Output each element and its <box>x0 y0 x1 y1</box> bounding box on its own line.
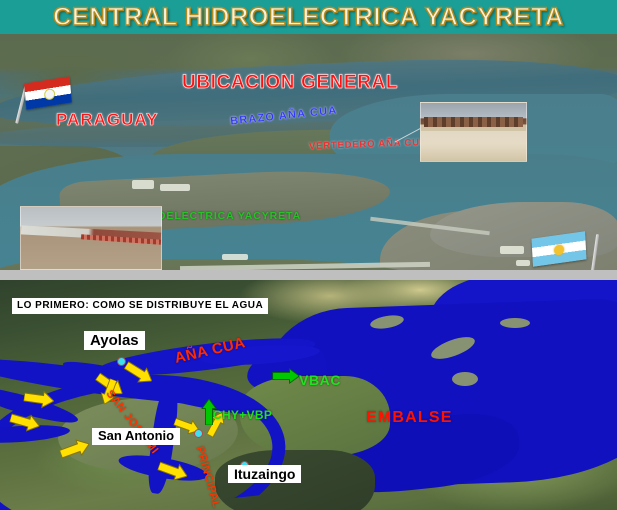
urban-area-2 <box>160 184 190 191</box>
spillway-foam <box>421 131 526 161</box>
spillway-photo-inset <box>420 102 527 162</box>
city-label-ituzaingo: Ituzaingo <box>228 465 301 483</box>
urban-area-5 <box>516 260 530 266</box>
top-panel-heading: UBICACION GENERAL <box>182 72 398 94</box>
top-map-panel: UBICACION GENERAL PARAGUAY BRAZO AÑA CUA… <box>0 34 617 270</box>
outlet-label-vbac: VBAC <box>299 372 341 388</box>
bottom-map-panel: LO PRIMERO: COMO SE DISTRIBUYE EL AGUA A… <box>0 280 617 510</box>
flag-cloth <box>24 76 72 109</box>
outlet-label-chy-vbp: CHY+VBP <box>213 408 272 422</box>
city-label-san-antonio: San Antonio <box>92 428 180 445</box>
city-dot-ayolas <box>117 357 126 366</box>
paraguay-flag-icon <box>18 76 74 122</box>
panel-divider <box>0 270 617 280</box>
flag-emblem <box>44 88 56 101</box>
title-bar: CENTRAL HIDROELECTRICA YACYRETA <box>0 0 617 34</box>
reservoir-island-4 <box>452 372 478 386</box>
urban-area-1 <box>132 180 154 189</box>
sun-of-may-icon <box>554 244 564 255</box>
poster-root: CENTRAL HIDROELECTRICA YACYRETA UBICACIO… <box>0 0 617 510</box>
page-title: CENTRAL HIDROELECTRICA YACYRETA <box>53 3 564 32</box>
reservoir-island-3 <box>500 318 530 328</box>
spillway-piers <box>424 117 523 127</box>
powerhouse-photo-inset <box>20 206 162 270</box>
flag-pole <box>590 234 599 270</box>
urban-area-3 <box>222 254 248 260</box>
argentina-flag-icon <box>530 230 600 270</box>
city-dot-san-antonio <box>194 429 203 438</box>
city-label-ayolas: Ayolas <box>84 331 145 350</box>
flag-cloth <box>532 231 587 267</box>
outlet-arrow-vbac <box>272 368 300 384</box>
urban-area-4 <box>500 246 524 254</box>
bottom-panel-heading: LO PRIMERO: COMO SE DISTRIBUYE EL AGUA <box>12 298 268 314</box>
reservoir-label-embalse: EMBALSE <box>366 409 453 427</box>
